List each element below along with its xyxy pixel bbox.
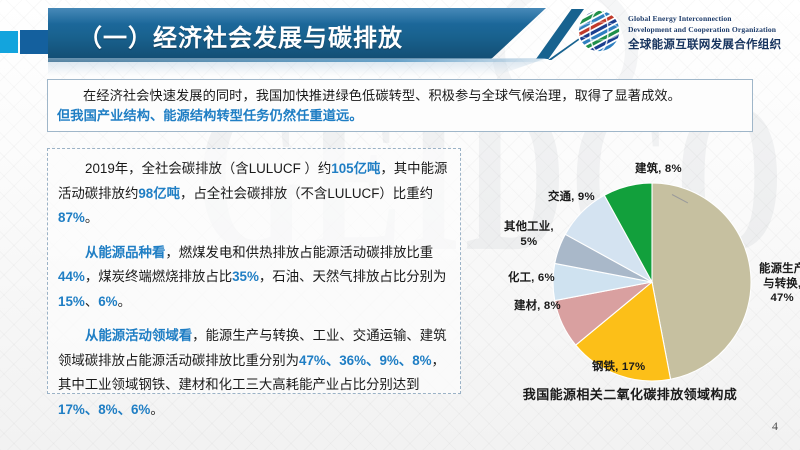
stats-paragraph-3: 从能源活动领域看，能源生产与转换、工业、交通运输、建筑领域碳排放占能源活动碳排放… [58, 324, 450, 422]
p3-t4: 、 [399, 353, 412, 368]
logo-english-line1: Global Energy Interconnection [628, 14, 732, 23]
pie-label-jianzhu: 建筑, 8% [635, 162, 682, 177]
organization-logo: Global Energy Interconnection Developmen… [576, 6, 796, 58]
pie-label-nengyuan-l3: 47% [759, 291, 800, 306]
pie-slice-0 [652, 183, 751, 379]
logo-chinese-name: 全球能源互联网发展合作组织 [628, 36, 781, 52]
p3-v7: 6% [131, 402, 150, 417]
pie-slices [552, 182, 752, 382]
p3-v6: 8% [98, 402, 117, 417]
p3-t7: 、 [118, 402, 131, 417]
pie-graphic [552, 182, 752, 382]
pie-label-jiaotong-text: 交通, 9% [548, 191, 595, 203]
pie-label-gangtie-text: 钢铁, 17% [592, 361, 645, 373]
pie-label-nengyuan-l2: 与转换, [759, 277, 800, 292]
pie-label-qitagongye-l1: 其他工业, [504, 220, 554, 235]
p2-v3: 15% [58, 294, 85, 309]
p2-t3: ，石油、天然气排放占比分别为 [259, 269, 446, 284]
stats-paragraph-1: 2019年，全社会碳排放（含LULUCF ）约105亿吨，其中能源活动碳排放约9… [58, 157, 450, 231]
p1-v3: 87% [58, 210, 85, 225]
p1-t1: 2019年，全社会碳排放（含LULUCF ）约 [85, 161, 331, 176]
pie-label-nengyuan-l1: 能源生产 [759, 262, 800, 277]
p1-t3: ，占全社会碳排放（不含LULUCF）比重约 [180, 186, 433, 201]
p2-t5: 。 [118, 294, 131, 309]
p3-v1: 47% [299, 353, 326, 368]
pie-label-jiancai: 建材, 8% [514, 299, 561, 314]
p3-v2: 36% [339, 353, 366, 368]
globe-icon [576, 8, 622, 54]
statement-line-1: 在经济社会快速发展的同时，我国加快推进绿色低碳转型、积极参与全球气候治理，取得了… [57, 86, 743, 106]
pie-label-jiaotong: 交通, 9% [548, 190, 595, 205]
p3-t6: 、 [85, 402, 98, 417]
pie-label-huagong: 化工, 6% [508, 271, 555, 286]
p3-t2: 、 [326, 353, 339, 368]
p2-t2: ，煤炭终端燃烧排放占比 [85, 269, 232, 284]
pie-label-gangtie: 钢铁, 17% [592, 360, 645, 375]
pie-label-jianzhu-text: 建筑, 8% [635, 163, 682, 175]
pie-label-nengyuanshengchan: 能源生产 与转换, 47% [759, 262, 800, 306]
pie-label-huagong-text: 化工, 6% [508, 272, 555, 284]
emissions-pie-chart: 建筑, 8% 交通, 9% 其他工业, 5% 化工, 6% 建材, 8% 钢铁,… [460, 150, 800, 410]
p1-t4: 。 [85, 210, 98, 225]
chart-caption: 我国能源相关二氧化碳排放领域构成 [460, 384, 800, 403]
statistics-box: 2019年，全社会碳排放（含LULUCF ）约105亿吨，其中能源活动碳排放约9… [47, 148, 461, 394]
slide-canvas: GEIDCO （一）经济社会发展与碳排放 [0, 0, 800, 450]
p3-v3: 9% [379, 353, 398, 368]
p2-v2: 35% [232, 269, 259, 284]
pie-label-qitagongye-l2: 5% [504, 235, 554, 250]
page-title: （一）经济社会发展与碳排放 [78, 18, 403, 53]
p2-v4: 6% [98, 294, 117, 309]
p1-v1: 105亿吨 [331, 161, 380, 176]
statement-line-2: 但我国产业结构、能源结构转型任务仍然任重道远。 [57, 106, 743, 126]
p2-t1: ，燃煤发电和供热排放占能源活动碳排放比重 [165, 245, 433, 260]
summary-statement-box: 在经济社会快速发展的同时，我国加快推进绿色低碳转型、积极参与全球气候治理，取得了… [47, 79, 753, 132]
p3-t3: 、 [366, 353, 379, 368]
p3-t8: 。 [150, 402, 163, 417]
logo-english-line2: Development and Cooperation Organization [628, 25, 776, 34]
pie-label-jiancai-text: 建材, 8% [514, 300, 561, 312]
p2-lead: 从能源品种看 [85, 245, 165, 260]
header-reflection [48, 58, 568, 76]
header-cyan-square [0, 31, 18, 53]
p1-v2: 98亿吨 [138, 186, 180, 201]
p3-lead: 从能源活动领域看 [85, 328, 192, 343]
pie-label-qitagongye: 其他工业, 5% [504, 220, 554, 249]
p3-v4: 8% [412, 353, 431, 368]
page-number: 4 [772, 419, 778, 434]
stats-paragraph-2: 从能源品种看，燃煤发电和供热排放占能源活动碳排放比重44%，煤炭终端燃烧排放占比… [58, 241, 450, 315]
p3-v5: 17% [58, 402, 85, 417]
p2-v1: 44% [58, 269, 85, 284]
p2-t4: 、 [85, 294, 98, 309]
